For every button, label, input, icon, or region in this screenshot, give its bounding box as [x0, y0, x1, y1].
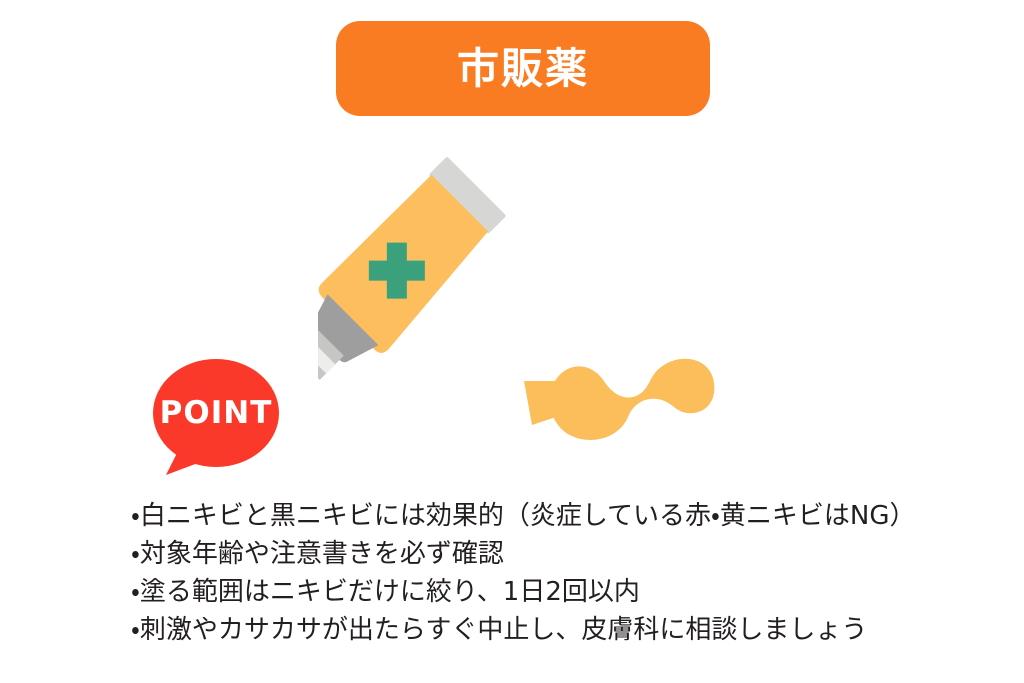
ointment-tube-illustration: [318, 145, 718, 445]
page-title: 市販薬: [457, 48, 589, 90]
bubble-body: [153, 359, 279, 467]
bullet-item-1: ・白ニキビと黒ニキビには効果的（炎症している赤・黄ニキビはNG）: [131, 497, 1001, 535]
cream-squeeze: [550, 359, 715, 440]
title-pill: 市販薬: [336, 21, 710, 116]
point-badge: POINT: [152, 359, 280, 481]
bullet-list: ・白ニキビと黒ニキビには効果的（炎症している赤・黄ニキビはNG） ・対象年齢や注…: [131, 497, 1001, 649]
bullet-item-4: ・刺激やカサカサが出たらすぐ中止し、皮膚科に相談しましょう: [131, 611, 1001, 649]
bullet-item-3: ・塗る範囲はニキビだけに絞り、1日2回以内: [131, 573, 1001, 611]
poster-canvas: 市販薬: [0, 0, 1024, 683]
bullet-item-2: ・対象年齢や注意書きを必ず確認: [131, 535, 1001, 573]
